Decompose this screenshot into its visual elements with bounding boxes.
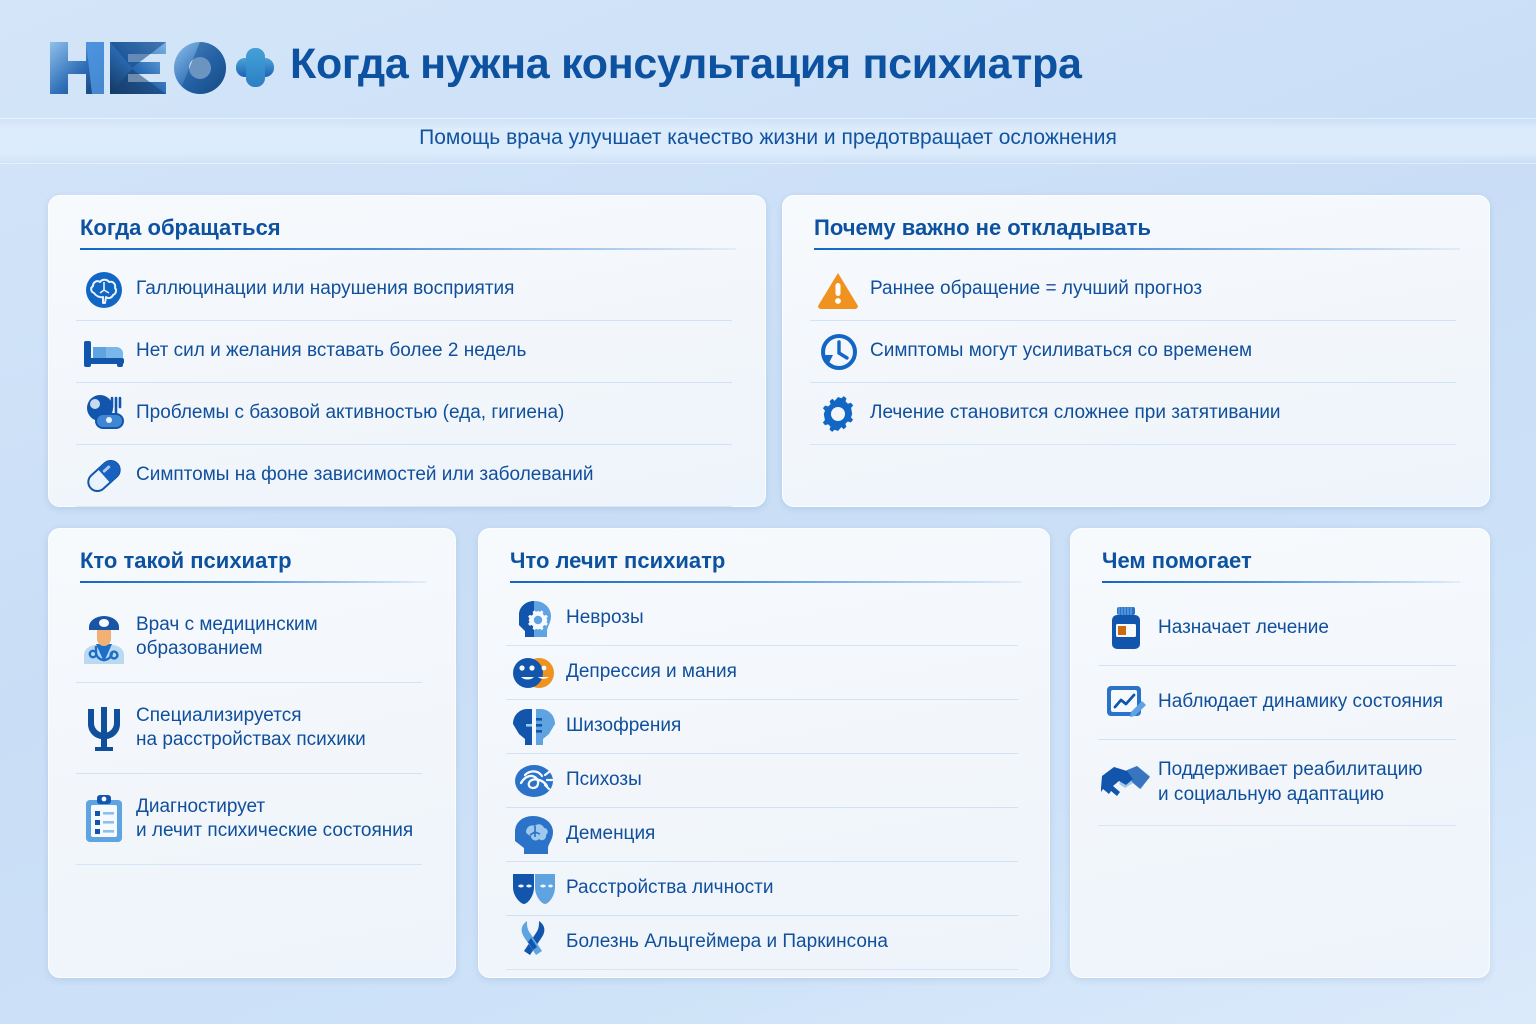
list-item-line1: Поддерживает реабилитацию [1158, 758, 1423, 782]
psi-symbol-icon [76, 683, 132, 773]
doctor-avatar-icon [76, 592, 132, 682]
list-item[interactable]: Депрессия и мания [506, 646, 1018, 700]
card-title: Что лечит психиатр [510, 548, 725, 574]
list-item[interactable]: Галлюцинации или нарушения восприятия [76, 259, 732, 321]
list-item-line1: Наблюдает динамику состояния [1158, 690, 1443, 714]
card-title: Кто такой психиатр [80, 548, 292, 574]
list-item-label: Специализируется на расстройствах психик… [132, 704, 366, 752]
medicine-bottle-icon [1098, 592, 1154, 665]
list-item-line1: Диагностирует [136, 795, 413, 819]
list-item[interactable]: Деменция [506, 808, 1018, 862]
list-item-label: Нет сил и желания вставать более 2 недел… [132, 339, 526, 363]
theatre-masks-icon [506, 862, 562, 915]
list-item[interactable]: Психозы [506, 754, 1018, 808]
two-masks-faces-icon [506, 646, 562, 699]
list-item-label: Поддерживает реабилитацию и социальную а… [1154, 758, 1423, 806]
list-item-label: Галлюцинации или нарушения восприятия [132, 277, 514, 301]
list-item-label: Раннее обращение = лучший прогноз [866, 277, 1202, 301]
card-how-it-helps: Чем помогает Назначает лечение [1070, 528, 1490, 978]
list-item[interactable]: Проблемы с базовой активностью (еда, гиг… [76, 383, 732, 445]
card-who-is-psychiatrist: Кто такой психиатр Врач с медицинским об… [48, 528, 456, 978]
plate-fork-icon [76, 383, 132, 444]
list-item-label: Депрессия и мания [562, 660, 737, 684]
list-item-line2: на расстройствах психики [136, 728, 366, 752]
capsule-pill-icon [76, 445, 132, 506]
gear-icon [810, 383, 866, 444]
list-item-line2: образованием [136, 637, 318, 661]
list-item-label: Лечение становится сложнее при затятиван… [866, 401, 1281, 425]
list-item[interactable]: Поддерживает реабилитацию и социальную а… [1098, 740, 1456, 826]
list-item-label: Шизофрения [562, 714, 681, 738]
split-head-icon [506, 700, 562, 753]
list-item-label: Симптомы могут усиливаться со временем [866, 339, 1252, 363]
bed-icon [76, 321, 132, 382]
card-title-rule [80, 581, 426, 583]
clipboard-icon [76, 774, 132, 864]
list-item[interactable]: Симптомы могут усиливаться со временем [810, 321, 1456, 383]
list-item[interactable]: Раннее обращение = лучший прогноз [810, 259, 1456, 321]
list-item[interactable]: Расстройства личности [506, 862, 1018, 916]
list-item[interactable]: Лечение становится сложнее при затятиван… [810, 383, 1456, 445]
list-item-line1: Специализируется [136, 704, 366, 728]
tangled-mind-icon [506, 754, 562, 807]
card-title: Чем помогает [1102, 548, 1252, 574]
list-item[interactable]: Специализируется на расстройствах психик… [76, 683, 422, 774]
list-item-label: Деменция [562, 822, 655, 846]
card-when-to-seek-help: Когда обращаться Галлюцинации или наруше… [48, 195, 766, 507]
list-item[interactable]: Симптомы на фоне зависимостей или заболе… [76, 445, 732, 507]
card-why-not-delay: Почему важно не откладывать Раннее обращ… [782, 195, 1490, 507]
list-item[interactable]: Наблюдает динамику состояния [1098, 666, 1456, 740]
card-title-rule [814, 248, 1460, 250]
list-item-label: Диагностирует и лечит психические состоя… [132, 795, 413, 843]
list-item[interactable]: Назначает лечение [1098, 592, 1456, 666]
card-title-rule [510, 581, 1022, 583]
list-item-label: Симптомы на фоне зависимостей или заболе… [132, 463, 594, 487]
list-item[interactable]: Нет сил и желания вставать более 2 недел… [76, 321, 732, 383]
list-item-label: Расстройства личности [562, 876, 773, 900]
card-title-rule [1102, 581, 1460, 583]
chart-monitor-icon [1098, 666, 1154, 739]
page-title: Когда нужна консультация психиатра [290, 40, 1082, 89]
card-what-psychiatrist-treats: Что лечит психиатр Неврозы [478, 528, 1050, 978]
list-item-label: Врач с медицинским образованием [132, 613, 318, 661]
page-header: Когда нужна консультация психиатра Помощ… [0, 0, 1536, 180]
head-gear-icon [506, 592, 562, 645]
list-item-label: Назначает лечение [1154, 616, 1329, 640]
list-item-label: Психозы [562, 768, 642, 792]
list-item-label: Проблемы с базовой активностью (еда, гиг… [132, 401, 564, 425]
page-subtitle: Помощь врача улучшает качество жизни и п… [0, 126, 1536, 150]
list-item-label: Неврозы [562, 606, 644, 630]
list-item[interactable]: Шизофрения [506, 700, 1018, 754]
brain-icon [76, 259, 132, 320]
card-title: Когда обращаться [80, 215, 281, 241]
list-item[interactable]: Врач с медицинским образованием [76, 592, 422, 683]
list-item-line2: и социальную адаптацию [1158, 783, 1423, 807]
awareness-ribbon-icon [506, 916, 562, 969]
list-item-label: Наблюдает динамику состояния [1154, 690, 1443, 714]
clock-icon [810, 321, 866, 382]
head-brain-icon [506, 808, 562, 861]
list-item[interactable]: Неврозы [506, 592, 1018, 646]
card-title-rule [80, 248, 736, 250]
list-item-line1: Назначает лечение [1158, 616, 1329, 640]
list-item[interactable]: Диагностирует и лечит психические состоя… [76, 774, 422, 865]
list-item[interactable]: Болезнь Альцгеймера и Паркинсона [506, 916, 1018, 970]
list-item-line2: и лечит психические состояния [136, 819, 413, 843]
neo-plus-logo [48, 36, 276, 98]
handshake-icon [1098, 740, 1154, 825]
card-title: Почему важно не откладывать [814, 215, 1151, 241]
list-item-line1: Врач с медицинским [136, 613, 318, 637]
warning-triangle-icon [810, 259, 866, 320]
list-item-label: Болезнь Альцгеймера и Паркинсона [562, 930, 888, 954]
